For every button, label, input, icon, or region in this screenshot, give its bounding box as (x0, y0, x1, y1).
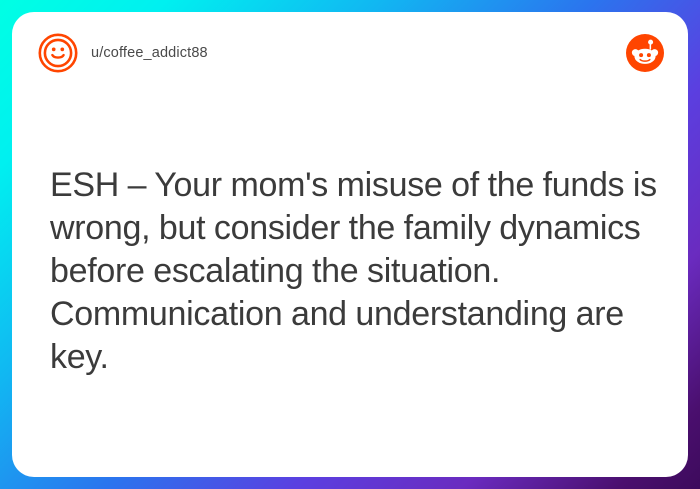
reddit-snoo-logo-icon[interactable] (626, 34, 664, 72)
author-block[interactable]: u/coffee_addict88 (38, 33, 626, 73)
reddit-post-card: u/coffee_addict88 ESH – Your (12, 12, 688, 477)
post-text: ESH – Your mom's misuse of the funds is … (50, 164, 658, 379)
post-header: u/coffee_addict88 (12, 12, 688, 94)
author-username[interactable]: u/coffee_addict88 (91, 45, 208, 61)
smiley-face-avatar-icon[interactable] (38, 33, 78, 73)
post-body: ESH – Your mom's misuse of the funds is … (50, 164, 658, 379)
